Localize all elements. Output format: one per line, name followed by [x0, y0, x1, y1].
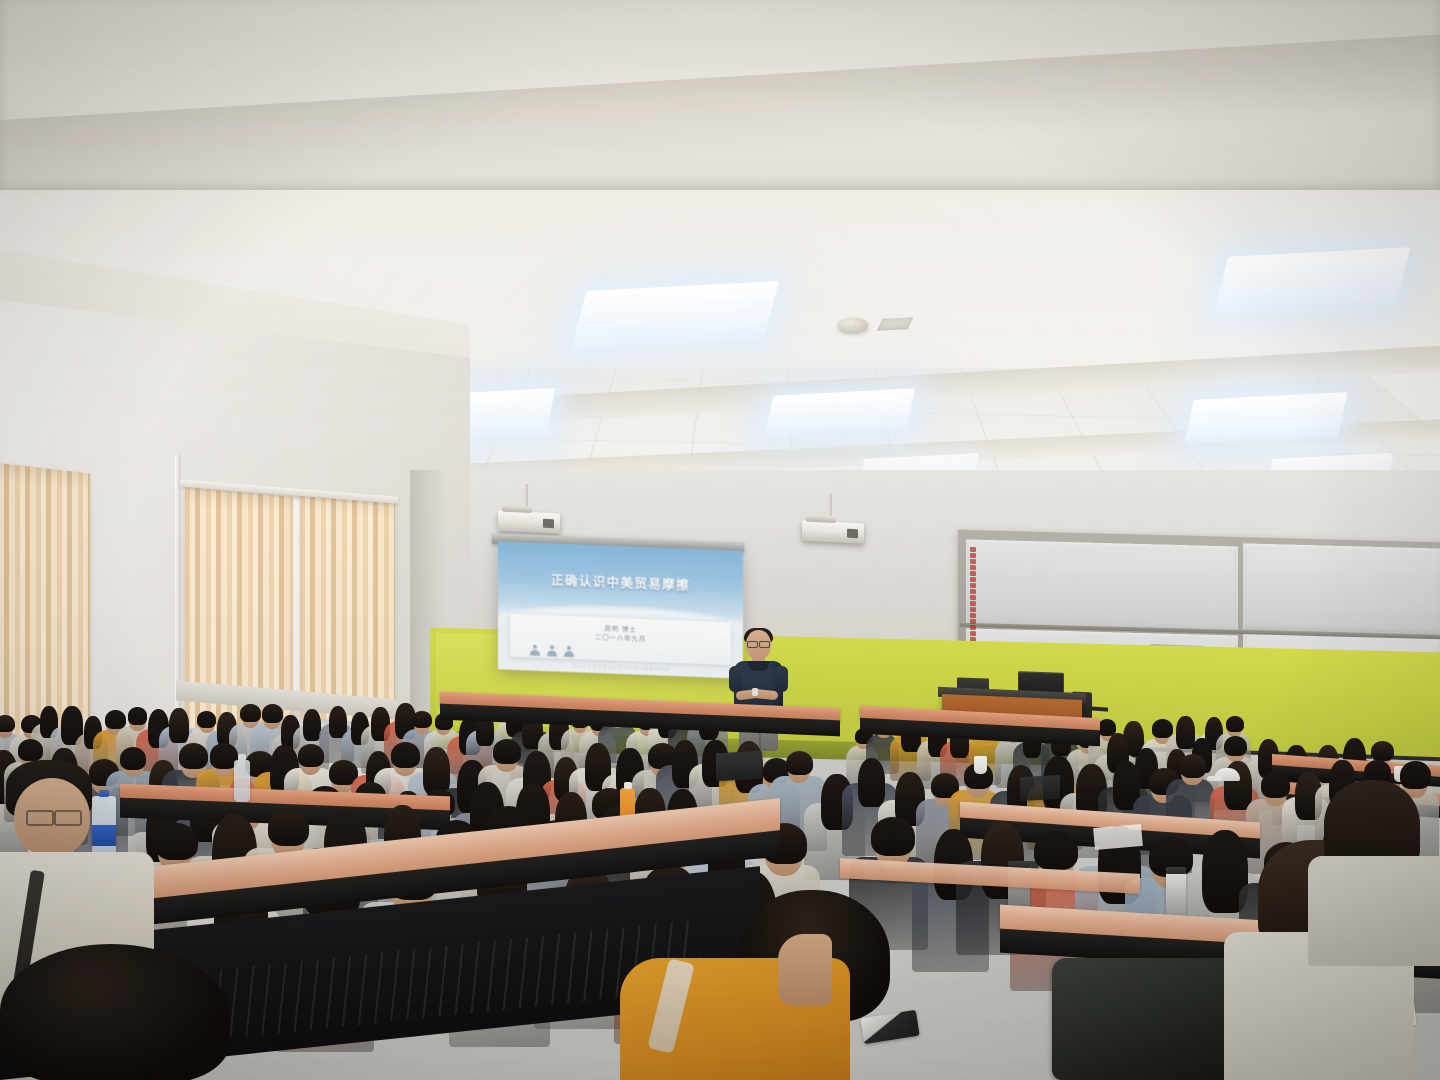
bottle-cap [624, 782, 632, 789]
slide-people-icons [530, 645, 574, 658]
shirt [1308, 856, 1440, 966]
hair [0, 715, 15, 733]
hair [1226, 716, 1244, 732]
paper-cup [974, 756, 987, 774]
hair [169, 708, 189, 743]
hair [1152, 719, 1173, 738]
student-right-upper [1312, 780, 1440, 960]
whiteboard-panel[interactable] [966, 539, 1238, 632]
whiteboard-panel[interactable] [1243, 543, 1440, 634]
presenter-watch [752, 688, 758, 696]
hair [179, 743, 208, 769]
hair [18, 739, 43, 761]
laptop[interactable] [716, 751, 762, 781]
white-cap [1214, 768, 1240, 781]
ceiling-projector-right[interactable] [802, 520, 864, 543]
glasses-icon [26, 810, 82, 822]
presenter-sleeve-right [775, 666, 788, 692]
hair [412, 711, 432, 729]
hair [1180, 754, 1207, 778]
laptop[interactable] [1020, 775, 1060, 801]
ceiling-projector-left[interactable] [498, 510, 560, 533]
student-orange-tank-top [620, 900, 940, 1080]
hair [1261, 772, 1290, 798]
slide-card: 周明 博士 二〇一八年九月 [510, 613, 731, 665]
hair [871, 817, 915, 856]
ceiling-light-panel [1214, 247, 1411, 314]
hair [493, 739, 521, 764]
student-foreground-dark-hair [0, 944, 300, 1080]
backpack [1052, 958, 1232, 1080]
hair [303, 709, 321, 742]
projection-screen[interactable]: 正确认识中美贸易摩擦 周明 博士 二〇一八年九月 四川大学马克思主义学院形势与政… [498, 541, 743, 678]
hair [0, 944, 230, 1080]
bottle-cap [238, 754, 246, 761]
neck-shoulder [778, 934, 832, 1006]
hair [298, 744, 324, 767]
ceiling-speaker-icon [838, 318, 868, 332]
ceiling-light-panel [1184, 392, 1347, 444]
curtain-middle-right [300, 493, 395, 725]
person-icon [547, 646, 557, 657]
person-icon [530, 645, 540, 656]
ceiling-light-panel [765, 388, 915, 435]
person-icon [564, 646, 574, 657]
hair [155, 823, 197, 861]
presenter-sleeve-left [729, 666, 742, 692]
ceiling-soffit [0, 0, 1440, 190]
ceiling-light-panel [571, 281, 779, 349]
notebook-page [1093, 824, 1143, 850]
glasses-icon [747, 641, 770, 646]
hair [197, 711, 216, 728]
water-bottle [234, 760, 250, 802]
hair [786, 751, 813, 776]
thermos-lid [1166, 867, 1186, 874]
hair [391, 742, 420, 768]
hair [268, 809, 309, 846]
hair [858, 758, 885, 807]
lecture-hall-photo: 正确认识中美贸易摩擦 周明 博士 二〇一八年九月 四川大学马克思主义学院形势与政… [0, 0, 1440, 1080]
hair [240, 704, 260, 722]
hair [105, 710, 126, 729]
hair [1034, 831, 1078, 870]
